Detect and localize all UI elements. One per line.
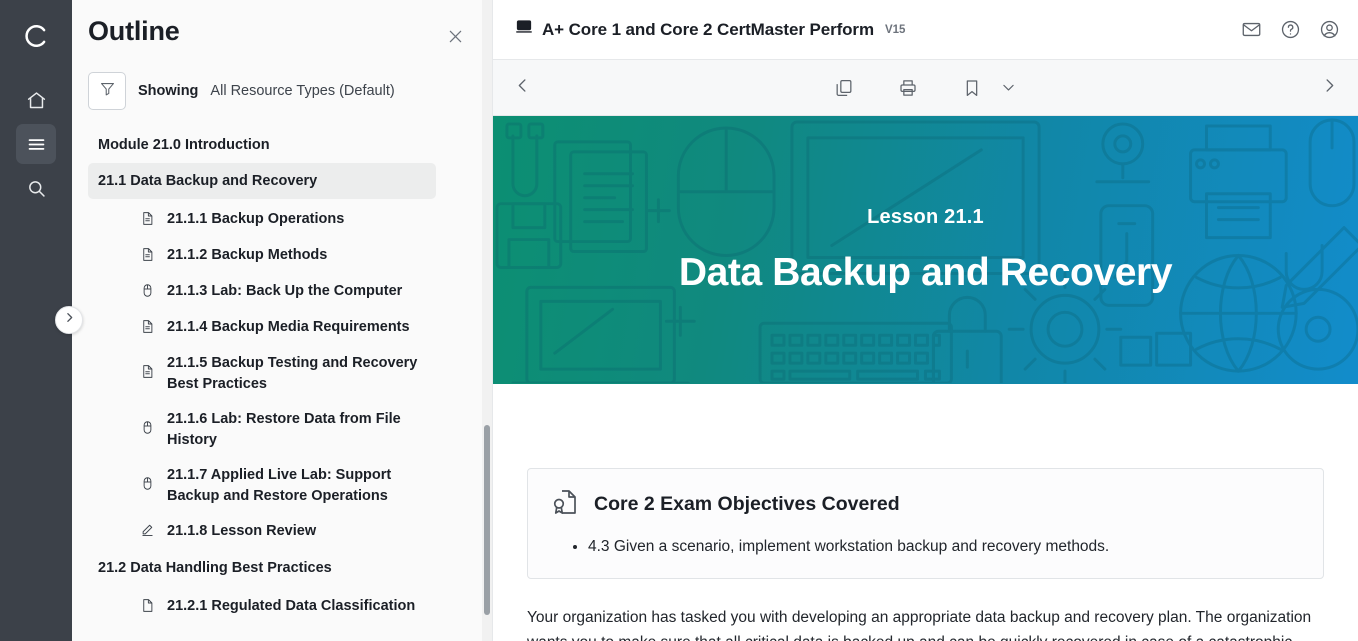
filter-row: Showing All Resource Types (Default) <box>72 54 492 110</box>
menu-icon <box>26 134 47 155</box>
page-icon <box>140 247 156 267</box>
chevron-down-icon[interactable] <box>1000 79 1017 96</box>
toolbar-buttons <box>551 78 1300 98</box>
list-item-label: 21.1.3 Lab: Back Up the Computer <box>167 281 402 302</box>
list-item-label: 21.2.1 Regulated Data Classification <box>167 596 415 617</box>
course-topbar: A+ Core 1 and Core 2 CertMaster Perform … <box>493 0 1358 60</box>
bookmark-icon[interactable] <box>962 78 982 98</box>
list-item[interactable]: 21.1.1 Backup Operations <box>88 202 454 238</box>
list-item-label: 21.1.7 Applied Live Lab: Support Backup … <box>167 465 407 507</box>
showing-label: Showing <box>138 83 198 99</box>
exam-objectives-box: Core 2 Exam Objectives Covered 4.3 Given… <box>527 468 1324 579</box>
module-heading: Module 21.0 Introduction <box>88 130 492 160</box>
rail-nav <box>16 80 56 208</box>
course-title: A+ Core 1 and Core 2 CertMaster Perform <box>542 20 874 40</box>
list-item-label: 21.1.5 Backup Testing and Recovery Best … <box>167 353 435 395</box>
copy-icon[interactable] <box>834 78 854 98</box>
page-title: Outline <box>88 16 180 47</box>
pencil-icon <box>140 523 156 543</box>
outline-header: Outline <box>72 0 492 54</box>
hero-lesson-number: Lesson 21.1 <box>867 206 984 229</box>
brand-logo-icon[interactable] <box>14 14 58 58</box>
list-item-label: 21.1.4 Backup Media Requirements <box>167 317 410 338</box>
list-item[interactable]: 21.2.1 Regulated Data Classification <box>88 589 454 625</box>
next-page-button[interactable] <box>1300 76 1358 100</box>
scrollbar-thumb[interactable] <box>484 425 490 615</box>
mouse-icon <box>140 283 156 303</box>
outline-panel: Outline Showing All Resource Types (Defa… <box>72 0 492 641</box>
app-root: Outline Showing All Resource Types (Defa… <box>0 0 1358 641</box>
expand-panel-button[interactable] <box>55 306 83 334</box>
course-identity: A+ Core 1 and Core 2 CertMaster Perform … <box>515 18 905 41</box>
exam-objectives-header: Core 2 Exam Objectives Covered <box>550 487 1301 522</box>
list-item[interactable]: 21.1.3 Lab: Back Up the Computer <box>88 274 454 310</box>
mouse-icon <box>140 476 156 496</box>
search-icon <box>26 178 47 199</box>
topbar-actions <box>1241 19 1340 40</box>
sidebar-item-outline[interactable] <box>16 124 56 164</box>
showing-value[interactable]: All Resource Types (Default) <box>210 83 394 99</box>
chevron-right-icon <box>1320 76 1339 100</box>
version-badge: V15 <box>885 24 905 36</box>
app-rail <box>0 0 72 641</box>
outline-section-21-2[interactable]: 21.2 Data Handling Best Practices <box>88 550 436 586</box>
list-item-label: 21.1.1 Backup Operations <box>167 209 344 230</box>
filter-button[interactable] <box>88 72 126 110</box>
lesson-scroll-area: Lesson 21.1 Data Backup and Recovery <box>493 116 1358 641</box>
list-item[interactable]: 21.1.2 Backup Methods <box>88 238 454 274</box>
page-icon <box>140 211 156 231</box>
sidebar-item-home[interactable] <box>16 80 56 120</box>
lesson-hero-banner: Lesson 21.1 Data Backup and Recovery <box>493 116 1358 384</box>
close-icon <box>446 27 465 51</box>
list-item[interactable]: 21.1.7 Applied Live Lab: Support Backup … <box>88 458 454 514</box>
close-outline-button[interactable] <box>440 24 470 54</box>
list-item[interactable]: 21.1.4 Backup Media Requirements <box>88 310 454 346</box>
exam-objectives-title: Core 2 Exam Objectives Covered <box>594 493 900 516</box>
main-content: A+ Core 1 and Core 2 CertMaster Perform … <box>492 0 1358 641</box>
account-icon[interactable] <box>1319 19 1340 40</box>
print-icon[interactable] <box>898 78 918 98</box>
chevron-left-icon <box>513 76 532 100</box>
page-icon <box>140 364 156 384</box>
chevron-right-icon <box>63 311 76 329</box>
list-item-label: 21.1.6 Lab: Restore Data from File Histo… <box>167 409 413 451</box>
outline-scrollbar[interactable] <box>482 0 492 641</box>
outline-section-21-1[interactable]: 21.1 Data Backup and Recovery <box>88 163 436 199</box>
mail-icon[interactable] <box>1241 19 1262 40</box>
outline-list: Module 21.0 Introduction 21.1 Data Backu… <box>72 130 492 641</box>
home-icon <box>26 90 47 111</box>
book-icon <box>515 18 533 41</box>
lesson-body: Core 2 Exam Objectives Covered 4.3 Given… <box>493 384 1358 641</box>
page-icon <box>140 319 156 339</box>
filter-icon <box>99 80 116 102</box>
certificate-icon <box>550 487 580 522</box>
prev-page-button[interactable] <box>493 76 551 100</box>
list-item[interactable]: 21.1.8 Lesson Review <box>88 514 454 550</box>
mouse-icon <box>140 420 156 440</box>
list-item[interactable]: 21.1.6 Lab: Restore Data from File Histo… <box>88 402 454 458</box>
page-toolbar <box>493 60 1358 116</box>
page-icon <box>140 598 156 618</box>
list-item: 4.3 Given a scenario, implement workstat… <box>588 535 1301 558</box>
help-icon[interactable] <box>1280 19 1301 40</box>
exam-objectives-list: 4.3 Given a scenario, implement workstat… <box>588 535 1301 558</box>
list-item[interactable]: 21.1.5 Backup Testing and Recovery Best … <box>88 346 454 402</box>
intro-paragraph: Your organization has tasked you with de… <box>527 605 1317 641</box>
sidebar-item-search[interactable] <box>16 168 56 208</box>
hero-lesson-title: Data Backup and Recovery <box>679 251 1172 295</box>
list-item-label: 21.1.8 Lesson Review <box>167 521 316 542</box>
list-item-label: 21.1.2 Backup Methods <box>167 245 327 266</box>
